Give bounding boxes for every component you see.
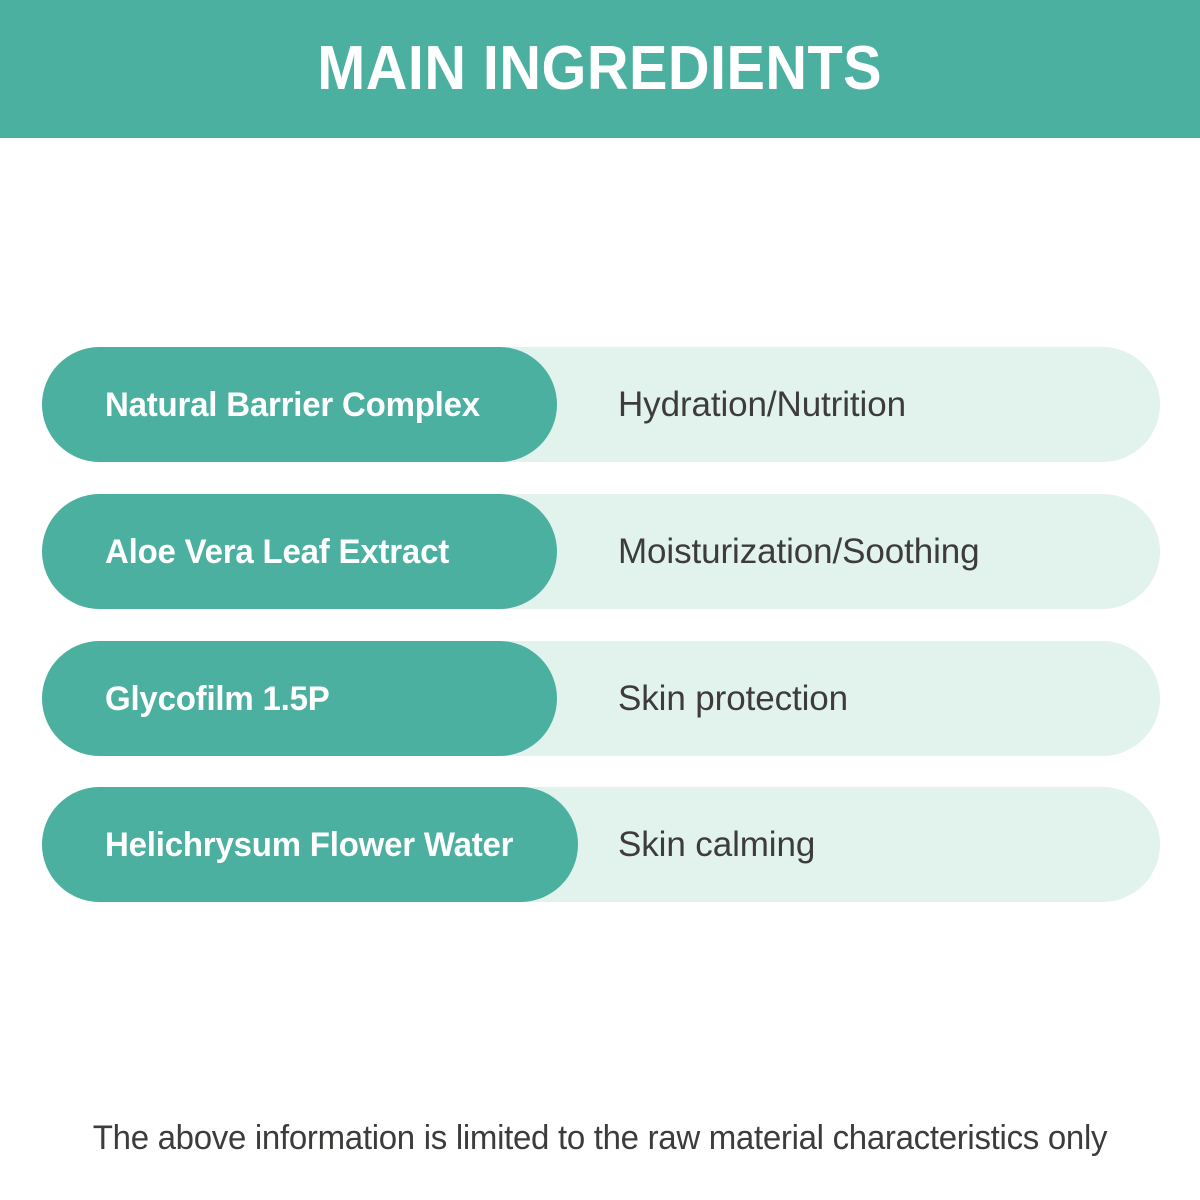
ingredient-benefit-cell: Hydration/Nutrition xyxy=(618,347,906,462)
ingredient-name-label: Glycofilm 1.5P xyxy=(105,682,330,716)
ingredient-row: Natural Barrier Complex Hydration/Nutrit… xyxy=(42,347,1160,462)
ingredient-benefit-cell: Skin protection xyxy=(618,641,848,756)
ingredient-name-pill: Aloe Vera Leaf Extract xyxy=(42,494,557,609)
ingredient-row: Helichrysum Flower Water Skin calming xyxy=(42,787,1160,902)
ingredient-name-pill: Helichrysum Flower Water xyxy=(42,787,578,902)
ingredient-name-label: Helichrysum Flower Water xyxy=(105,828,513,862)
ingredient-benefit-label: Skin protection xyxy=(618,681,848,716)
ingredient-name-label: Natural Barrier Complex xyxy=(105,388,480,422)
ingredient-row: Aloe Vera Leaf Extract Moisturization/So… xyxy=(42,494,1160,609)
ingredient-benefit-label: Skin calming xyxy=(618,827,815,862)
disclaimer-note: The above information is limited to the … xyxy=(18,1118,1182,1159)
ingredient-name-pill: Glycofilm 1.5P xyxy=(42,641,557,756)
ingredient-benefit-label: Hydration/Nutrition xyxy=(618,387,906,422)
ingredient-name-pill: Natural Barrier Complex xyxy=(42,347,557,462)
ingredient-benefit-label: Moisturization/Soothing xyxy=(618,534,980,569)
ingredient-row: Glycofilm 1.5P Skin protection xyxy=(42,641,1160,756)
ingredient-name-label: Aloe Vera Leaf Extract xyxy=(105,535,449,569)
header-band: MAIN INGREDIENTS xyxy=(0,0,1200,138)
ingredient-benefit-cell: Skin calming xyxy=(618,787,815,902)
ingredients-list: Natural Barrier Complex Hydration/Nutrit… xyxy=(0,347,1200,907)
ingredient-benefit-cell: Moisturization/Soothing xyxy=(618,494,980,609)
page-title: MAIN INGREDIENTS xyxy=(318,38,883,100)
